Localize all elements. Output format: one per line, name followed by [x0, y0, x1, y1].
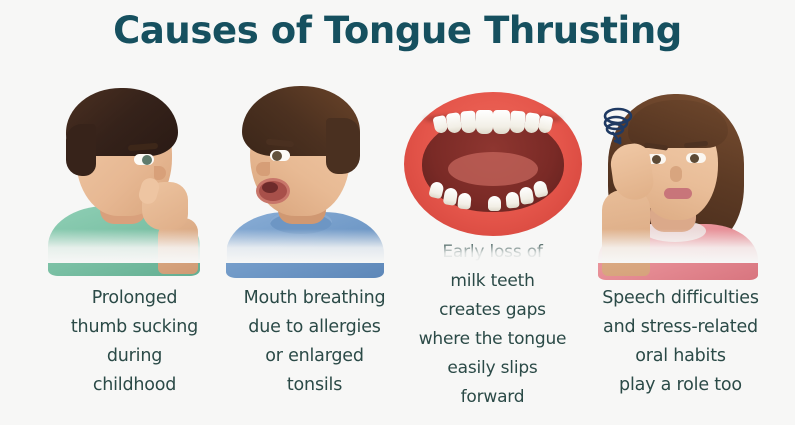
upper-tooth [509, 111, 525, 134]
upper-tooth [476, 110, 493, 134]
caption-line: Speech difficulties [582, 284, 779, 313]
iris [690, 154, 699, 163]
caption-line: thumb sucking [36, 313, 233, 342]
caption-line: and stress-related [582, 313, 779, 342]
caption-line: milk teeth [394, 267, 591, 296]
cause-column-speech-stress: Speech difficulties and stress-related o… [588, 78, 773, 418]
upper-tooth [460, 111, 476, 134]
lower-tooth [443, 187, 458, 206]
cause-column-milk-teeth-loss: Early loss of milk teeth creates gaps wh… [400, 78, 585, 418]
cause-column-mouth-breathing: Mouth breathing due to allergies or enla… [222, 78, 407, 418]
cause-column-thumb-sucking: Prolonged thumb sucking during childhood [42, 78, 227, 418]
illustration-stressed-woman [588, 78, 773, 263]
caption-speech-stress: Speech difficulties and stress-related o… [582, 284, 779, 400]
caption-line: where the tongue [394, 325, 591, 354]
caption-line: due to allergies [216, 313, 413, 342]
lower-tooth-gap [488, 196, 501, 211]
lower-tooth [457, 192, 471, 209]
caption-line: tonsils [216, 371, 413, 400]
lower-tooth [505, 191, 519, 208]
caption-milk-teeth-loss: Early loss of milk teeth creates gaps wh… [394, 238, 591, 412]
hair-sideburn [326, 118, 360, 174]
caption-line: easily slips [394, 354, 591, 383]
caption-line: or enlarged [216, 342, 413, 371]
nose [256, 162, 270, 176]
caption-line: play a role too [582, 371, 779, 400]
illustration-boy-thumb-sucking [42, 78, 227, 263]
hair-sideburn [66, 124, 96, 176]
caption-line: Prolonged [36, 284, 233, 313]
iris [142, 155, 152, 165]
illustration-boy-mouth-breathing [222, 78, 407, 263]
caption-thumb-sucking: Prolonged thumb sucking during childhood [36, 284, 233, 400]
tongue [448, 152, 538, 186]
page-title: Causes of Tongue Thrusting [0, 8, 795, 54]
caption-line: during [36, 342, 233, 371]
upper-tooth [493, 110, 510, 134]
caption-line: Early loss of [394, 238, 591, 267]
stress-swirl-icon [594, 102, 646, 154]
caption-mouth-breathing: Mouth breathing due to allergies or enla… [216, 284, 413, 400]
caption-line: creates gaps [394, 296, 591, 325]
caption-line: childhood [36, 371, 233, 400]
mouth-interior [262, 182, 278, 193]
nose [670, 166, 682, 182]
illustration-open-mouth-missing-teeth [400, 78, 585, 263]
caption-line: Mouth breathing [216, 284, 413, 313]
caption-line: forward [394, 383, 591, 412]
infographic-canvas: Causes of Tongue Thrusting Prolonged thu… [0, 0, 795, 425]
iris [652, 155, 661, 164]
forearm [602, 190, 650, 276]
caption-line: oral habits [582, 342, 779, 371]
lips [664, 188, 692, 199]
iris [272, 151, 282, 161]
